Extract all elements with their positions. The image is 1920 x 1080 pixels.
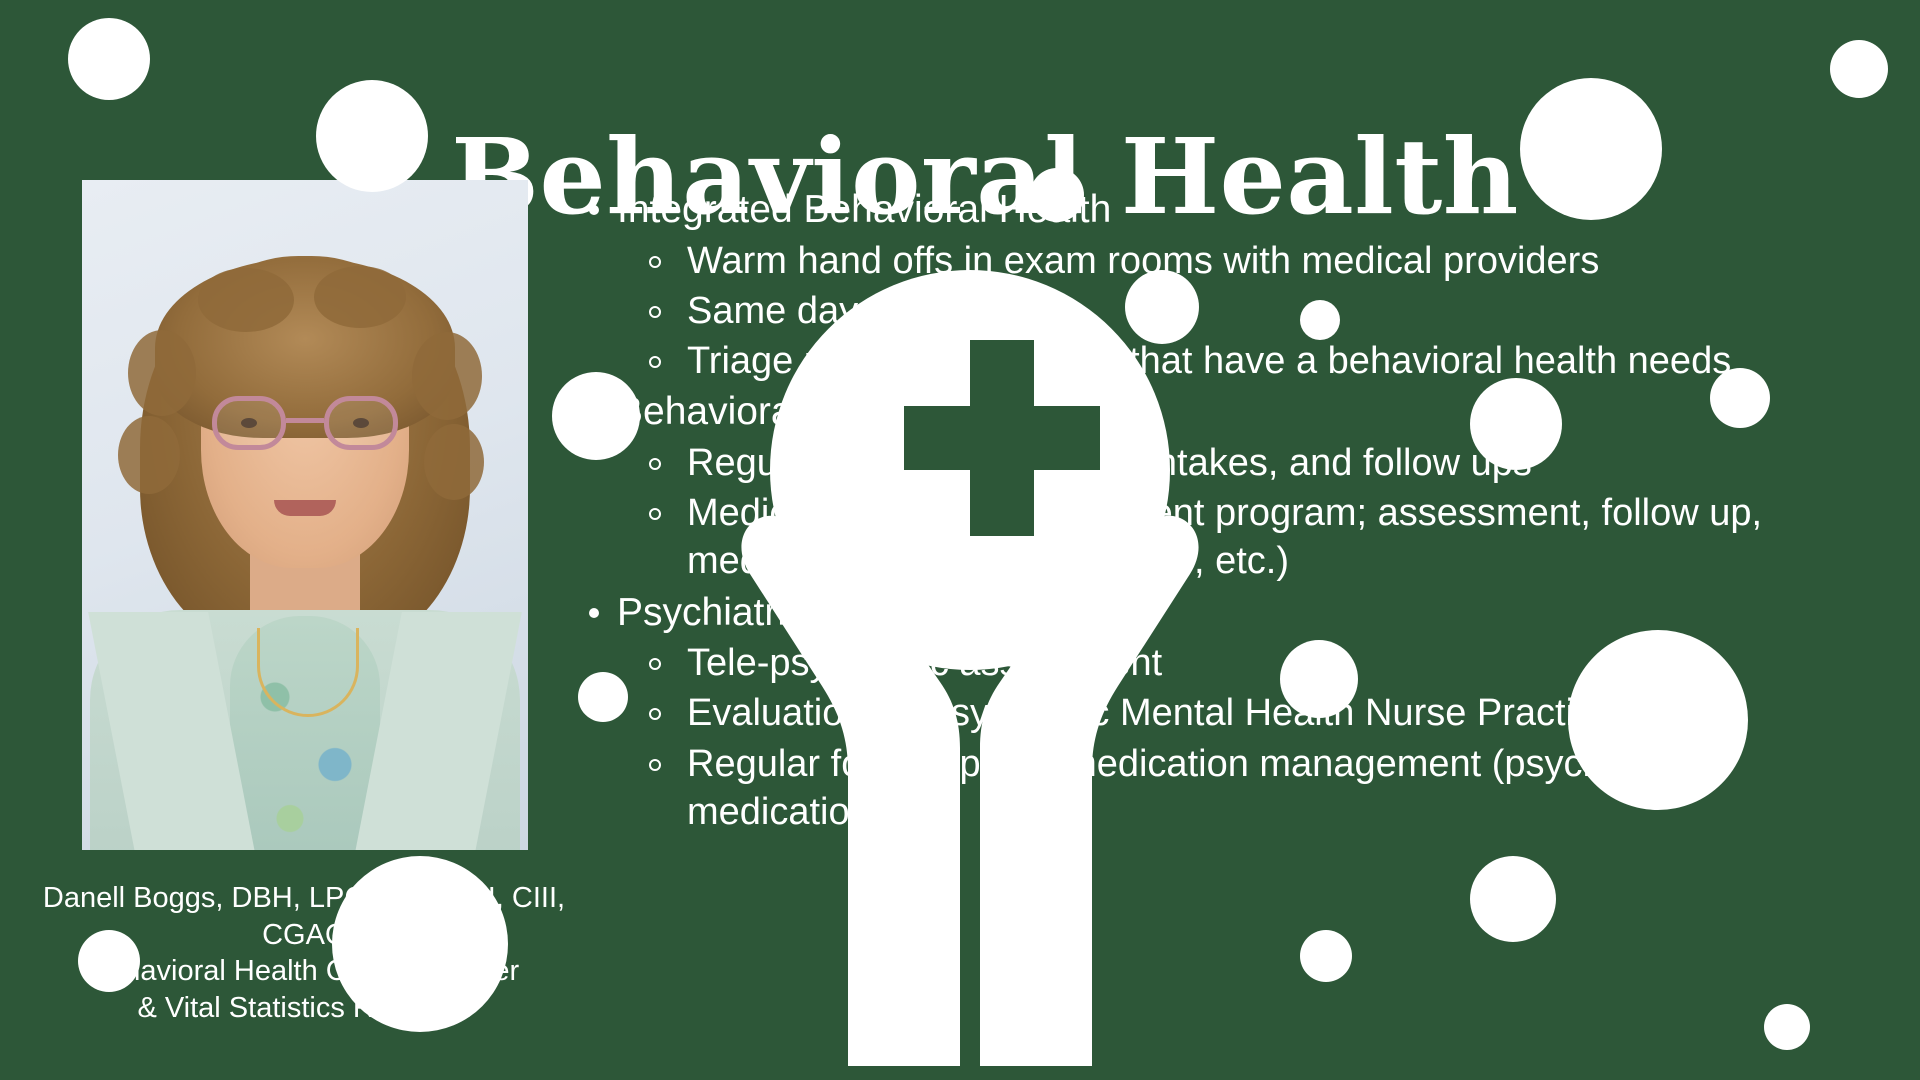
bullet-item-level2: Warm hand offs in exam rooms with medica…: [575, 237, 1905, 285]
bullet-item-level2: Tele-psychiatric assessment: [575, 639, 1905, 687]
bullet-text: Evaluation by Psychiatric Mental Health …: [687, 692, 1669, 734]
bullet-item-level2: Medication Assisted Treatment program; a…: [575, 489, 1905, 586]
bullet-circle-icon: [649, 256, 661, 268]
caption-line-1: Danell Boggs, DBH, LPC, CADC III, CIII,: [0, 880, 608, 917]
bullet-circle-icon: [649, 759, 661, 771]
decorative-circle: [1764, 1004, 1810, 1050]
bullet-item-level1: Psychiatric services:: [575, 588, 1905, 638]
caption-line-4: & Vital Statistics Registrar: [0, 990, 608, 1027]
speaker-caption: Danell Boggs, DBH, LPC, CADC III, CIII, …: [0, 880, 608, 1026]
bullet-item-level2: Triage patients in crisis or that have a…: [575, 337, 1905, 385]
bullet-text: Same day scheduling: [687, 290, 1050, 332]
decorative-circle: [1470, 856, 1556, 942]
portrait-curl: [314, 266, 406, 328]
decorative-circle: [68, 18, 150, 100]
portrait-curl: [118, 416, 180, 494]
glasses-lens-left: [212, 396, 286, 450]
decorative-circle: [1830, 40, 1888, 98]
bullet-item-level2: Regularly scheduled visits: intakes, and…: [575, 439, 1905, 487]
bullet-dot-icon: [589, 608, 599, 618]
bullet-text: Regular follow ups for medication manage…: [687, 743, 1684, 833]
bullet-item-level2: Same day scheduling: [575, 287, 1905, 335]
decorative-circle: [1300, 930, 1352, 982]
portrait-mouth: [274, 500, 336, 516]
bullet-item-level2: Evaluation by Psychiatric Mental Health …: [575, 689, 1905, 737]
bullet-item-level2: Regular follow ups for medication manage…: [575, 740, 1905, 837]
bullet-circle-icon: [649, 458, 661, 470]
caption-line-3: Behavioral Health Clinic Manager: [0, 953, 608, 990]
bullet-circle-icon: [649, 508, 661, 520]
glasses-bridge: [286, 418, 324, 423]
bullet-text: Tele-psychiatric assessment: [687, 642, 1162, 684]
speaker-photo: [82, 180, 528, 850]
portrait-curl: [198, 268, 294, 332]
bullet-text: Regularly scheduled visits: intakes, and…: [687, 442, 1532, 484]
slide-canvas: Behavioral Health: [0, 0, 1920, 1080]
bullet-text: Behavioral Health:: [617, 390, 936, 433]
bullet-text: Warm hand offs in exam rooms with medica…: [687, 240, 1599, 282]
portrait-image: [82, 180, 528, 850]
bullet-text: Integrated Behavioral Health: [617, 188, 1111, 231]
bullet-text: Medication Assisted Treatment program; a…: [687, 492, 1762, 582]
portrait-curl: [128, 330, 196, 416]
portrait-curl: [412, 332, 482, 420]
caption-line-2: CGAC: [0, 917, 608, 954]
bullet-item-level1: Integrated Behavioral Health: [575, 185, 1905, 235]
portrait-curl: [424, 424, 484, 500]
bullet-circle-icon: [649, 708, 661, 720]
bullet-text: Triage patients in crisis or that have a…: [687, 340, 1731, 382]
glasses-lens-right: [324, 396, 398, 450]
bullet-dot-icon: [589, 205, 599, 215]
bullet-circle-icon: [649, 306, 661, 318]
bullet-circle-icon: [649, 658, 661, 670]
bullet-text: Psychiatric services:: [617, 591, 970, 634]
bullet-list: Integrated Behavioral HealthWarm hand of…: [575, 185, 1905, 838]
bullet-item-level1: Behavioral Health:: [575, 387, 1905, 437]
portrait-glasses: [212, 396, 398, 452]
bullet-circle-icon: [649, 356, 661, 368]
bullet-dot-icon: [589, 408, 599, 418]
